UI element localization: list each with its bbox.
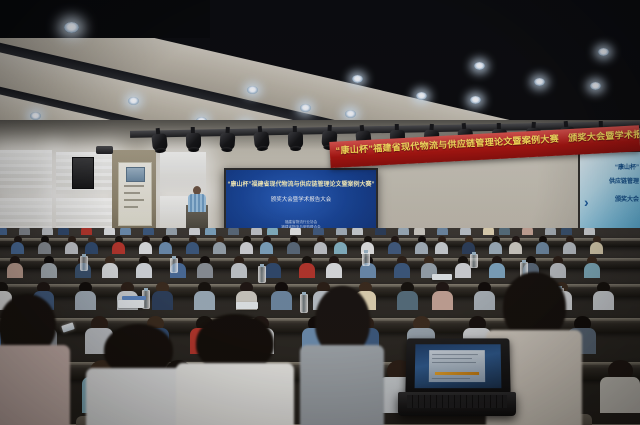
ceiling-spotlight — [470, 96, 481, 104]
water-bottle — [362, 252, 370, 266]
poster-line — [124, 206, 138, 208]
audience-member — [231, 256, 247, 277]
audience-member — [489, 236, 502, 253]
stage-spotlight — [286, 126, 305, 152]
audience-torso — [186, 242, 199, 254]
audience-member — [104, 228, 115, 234]
audience-torso — [197, 263, 213, 278]
audience-torso — [166, 228, 177, 235]
audience-torso — [489, 242, 502, 254]
audience-torso — [86, 368, 190, 425]
audience-member — [7, 256, 23, 277]
audience-torso — [415, 242, 428, 254]
audience-member — [593, 282, 614, 309]
audience-torso — [152, 291, 173, 310]
presenter-at-podium — [188, 186, 206, 212]
audience-member — [375, 228, 386, 234]
audience-torso — [584, 228, 595, 235]
audience-member — [536, 236, 549, 253]
audience-member — [561, 228, 572, 234]
audience-torso — [231, 263, 247, 278]
paper-handout — [236, 302, 258, 309]
ceiling-spotlight — [352, 75, 363, 83]
laptop-keyboard — [407, 395, 507, 408]
ceiling-spotlight — [474, 62, 485, 70]
laptop-highlight-bar — [435, 372, 479, 375]
audience-member — [462, 236, 475, 253]
audience-member — [483, 228, 494, 234]
audience-member — [42, 228, 53, 234]
audience-member — [120, 228, 131, 234]
laptop-lid — [405, 338, 510, 394]
audience-member — [352, 228, 363, 234]
stage-spotlight — [184, 127, 203, 153]
audience-member — [19, 228, 30, 234]
audience-member — [38, 236, 51, 253]
stage-spotlight — [217, 126, 238, 153]
foreground-audience-member — [176, 314, 294, 425]
audience-torso — [65, 242, 78, 254]
audience-member — [397, 282, 418, 309]
audience-torso — [139, 242, 152, 254]
ceiling-corner-shadow — [0, 0, 210, 38]
ceiling-spotlight — [534, 78, 545, 86]
audience-torso — [85, 242, 98, 254]
audience-torso — [336, 228, 347, 235]
audience-member — [197, 256, 213, 277]
audience-torso — [435, 242, 448, 254]
audience-torso — [460, 228, 471, 235]
audience-seating — [0, 228, 640, 425]
audience-torso — [326, 263, 342, 278]
audience-torso — [251, 228, 262, 235]
audience-member — [299, 256, 315, 277]
audience-torso — [334, 242, 347, 254]
audience-member — [159, 236, 172, 253]
audience-member — [509, 236, 522, 253]
ceiling-spotlight — [416, 92, 427, 100]
audience-member — [334, 236, 347, 253]
audience-member — [186, 236, 199, 253]
audience-member — [11, 236, 24, 253]
audience-member — [112, 236, 125, 253]
foreground-audience-member — [0, 294, 70, 425]
audience-member — [287, 236, 300, 253]
audience-torso — [397, 291, 418, 310]
audience-torso — [260, 242, 273, 254]
audience-torso — [0, 345, 70, 425]
audience-member — [85, 236, 98, 253]
audience-member — [152, 282, 173, 309]
screen-title-line2: 颁奖大会暨学术报告大会 — [226, 197, 376, 204]
audience-torso — [58, 228, 69, 235]
audience-torso — [104, 228, 115, 235]
audience-member — [102, 256, 118, 277]
audience-member — [455, 256, 471, 277]
poster-line — [124, 199, 144, 201]
blue-folder — [122, 296, 146, 300]
audience-torso — [300, 345, 384, 425]
audience-member — [265, 256, 281, 277]
audience-member — [205, 228, 216, 234]
audience-member — [499, 228, 510, 234]
ceiling-spotlight — [247, 86, 258, 94]
audience-member — [271, 282, 292, 309]
audience-member — [58, 228, 69, 234]
audience-torso — [313, 228, 324, 235]
audience-torso — [299, 263, 315, 278]
ceiling-spotlight — [590, 82, 601, 90]
stage-spotlight — [149, 127, 171, 155]
audience-torso — [483, 228, 494, 235]
audience-torso — [563, 242, 576, 254]
ceiling-projector — [96, 146, 113, 154]
audience-torso — [42, 228, 53, 235]
tiered-desk — [0, 258, 640, 269]
audience-torso — [0, 228, 7, 235]
foreground-audience-member — [86, 324, 190, 425]
audience-member — [251, 228, 262, 234]
audience-member — [139, 236, 152, 253]
audience-torso — [189, 228, 200, 235]
audience-torso — [11, 242, 24, 254]
audience-member — [563, 236, 576, 253]
water-bottle — [258, 266, 266, 283]
audience-torso — [120, 228, 131, 235]
audience-torso — [437, 228, 448, 235]
audience-torso — [38, 242, 51, 254]
audience-member — [267, 228, 278, 234]
audience-member — [522, 228, 533, 234]
audience-member — [398, 228, 409, 234]
audience-member — [81, 228, 92, 234]
audience-torso — [584, 263, 600, 278]
audience-torso — [499, 228, 510, 235]
laptop-document — [429, 350, 485, 382]
audience-torso — [394, 263, 410, 278]
audience-torso — [176, 363, 294, 425]
audience-member — [41, 256, 57, 277]
audience-torso — [19, 228, 30, 235]
audience-torso — [375, 228, 386, 235]
presenter-torso — [188, 194, 206, 212]
poster-line — [124, 185, 144, 187]
right-screen-line3: 颁奖大会 — [615, 196, 639, 204]
audience-torso — [102, 263, 118, 278]
wall-speaker — [72, 157, 94, 189]
secondary-screen-surface: “康山杯” 供应链管理 颁奖大会 › — [580, 152, 640, 238]
foreground-audience-member — [300, 286, 384, 425]
audience-torso — [112, 242, 125, 254]
audience-member — [584, 228, 595, 234]
audience-member — [326, 256, 342, 277]
audience-torso — [561, 228, 572, 235]
audience-torso — [509, 242, 522, 254]
audience-torso — [81, 228, 92, 235]
audience-torso — [7, 263, 23, 278]
audience-torso — [213, 242, 226, 254]
laptop-screen — [415, 344, 502, 388]
audience-torso — [522, 228, 533, 235]
window-pane — [0, 150, 52, 194]
audience-member — [166, 228, 177, 234]
audience-member — [65, 236, 78, 253]
poster-line — [124, 192, 140, 194]
audience-member — [228, 228, 239, 234]
audience-torso — [388, 242, 401, 254]
audience-member — [194, 282, 215, 309]
laptop-base — [398, 392, 516, 416]
audience-torso — [432, 291, 453, 310]
audience-torso — [545, 228, 556, 235]
audience-member — [313, 228, 324, 234]
audience-member — [600, 360, 640, 410]
audience-torso — [290, 228, 301, 235]
audience-torso — [240, 242, 253, 254]
paper-handout — [118, 300, 144, 308]
audience-member — [432, 282, 453, 309]
audience-torso — [205, 228, 216, 235]
right-screen-line1: “康山杯” — [615, 164, 639, 172]
audience-member — [213, 236, 226, 253]
audience-member — [314, 236, 327, 253]
audience-member — [136, 256, 152, 277]
audience-torso — [593, 291, 614, 310]
audience-member — [75, 282, 96, 309]
audience-member — [545, 228, 556, 234]
audience-torso — [314, 242, 327, 254]
audience-torso — [352, 228, 363, 235]
paper-handout — [432, 274, 452, 280]
audience-torso — [287, 242, 300, 254]
water-bottle — [170, 258, 178, 273]
wall-notice-board — [118, 162, 152, 226]
ceiling-spotlight — [598, 48, 609, 56]
audience-torso — [271, 291, 292, 310]
audience-member — [394, 256, 410, 277]
ceiling-spotlight — [128, 97, 139, 105]
audience-member — [437, 228, 448, 234]
screen-title-line1: “康山杯”福建省现代物流与供应链管理论文暨案例大赛” — [226, 181, 376, 189]
audience-torso — [194, 291, 215, 310]
audience-member — [290, 228, 301, 234]
water-bottle — [80, 256, 88, 271]
audience-torso — [136, 263, 152, 278]
audience-member — [388, 236, 401, 253]
right-screen-line2: 供应链管理 — [609, 178, 639, 186]
conference-hall-photo: “康山杯” 供应链管理 颁奖大会 › “康山杯”福建省现代物流与供应链管理论文暨… — [0, 0, 640, 425]
audience-member — [584, 256, 600, 277]
ceiling-spotlight — [64, 22, 79, 33]
audience-torso — [414, 228, 425, 235]
audience-member — [415, 236, 428, 253]
audience-torso — [75, 291, 96, 310]
audience-torso — [267, 228, 278, 235]
poster-image — [126, 167, 145, 182]
audience-torso — [159, 242, 172, 254]
audience-torso — [455, 263, 471, 278]
foreground-laptop — [398, 338, 516, 422]
audience-torso — [41, 263, 57, 278]
audience-member — [336, 228, 347, 234]
audience-torso — [600, 377, 640, 413]
audience-torso — [590, 242, 603, 254]
audience-member — [414, 228, 425, 234]
secondary-projection-screen: “康山杯” 供应链管理 颁奖大会 › — [578, 150, 640, 240]
audience-member — [240, 236, 253, 253]
chevron-right-icon: › — [584, 196, 600, 208]
audience-member — [189, 228, 200, 234]
audience-torso — [228, 228, 239, 235]
audience-torso — [143, 228, 154, 235]
audience-member — [435, 236, 448, 253]
audience-torso — [398, 228, 409, 235]
water-bottle — [470, 254, 478, 268]
stage-spotlight — [251, 125, 273, 153]
audience-torso — [265, 263, 281, 278]
audience-member — [260, 236, 273, 253]
audience-member — [590, 236, 603, 253]
audience-member — [0, 228, 7, 234]
audience-member — [460, 228, 471, 234]
audience-torso — [536, 242, 549, 254]
audience-member — [143, 228, 154, 234]
